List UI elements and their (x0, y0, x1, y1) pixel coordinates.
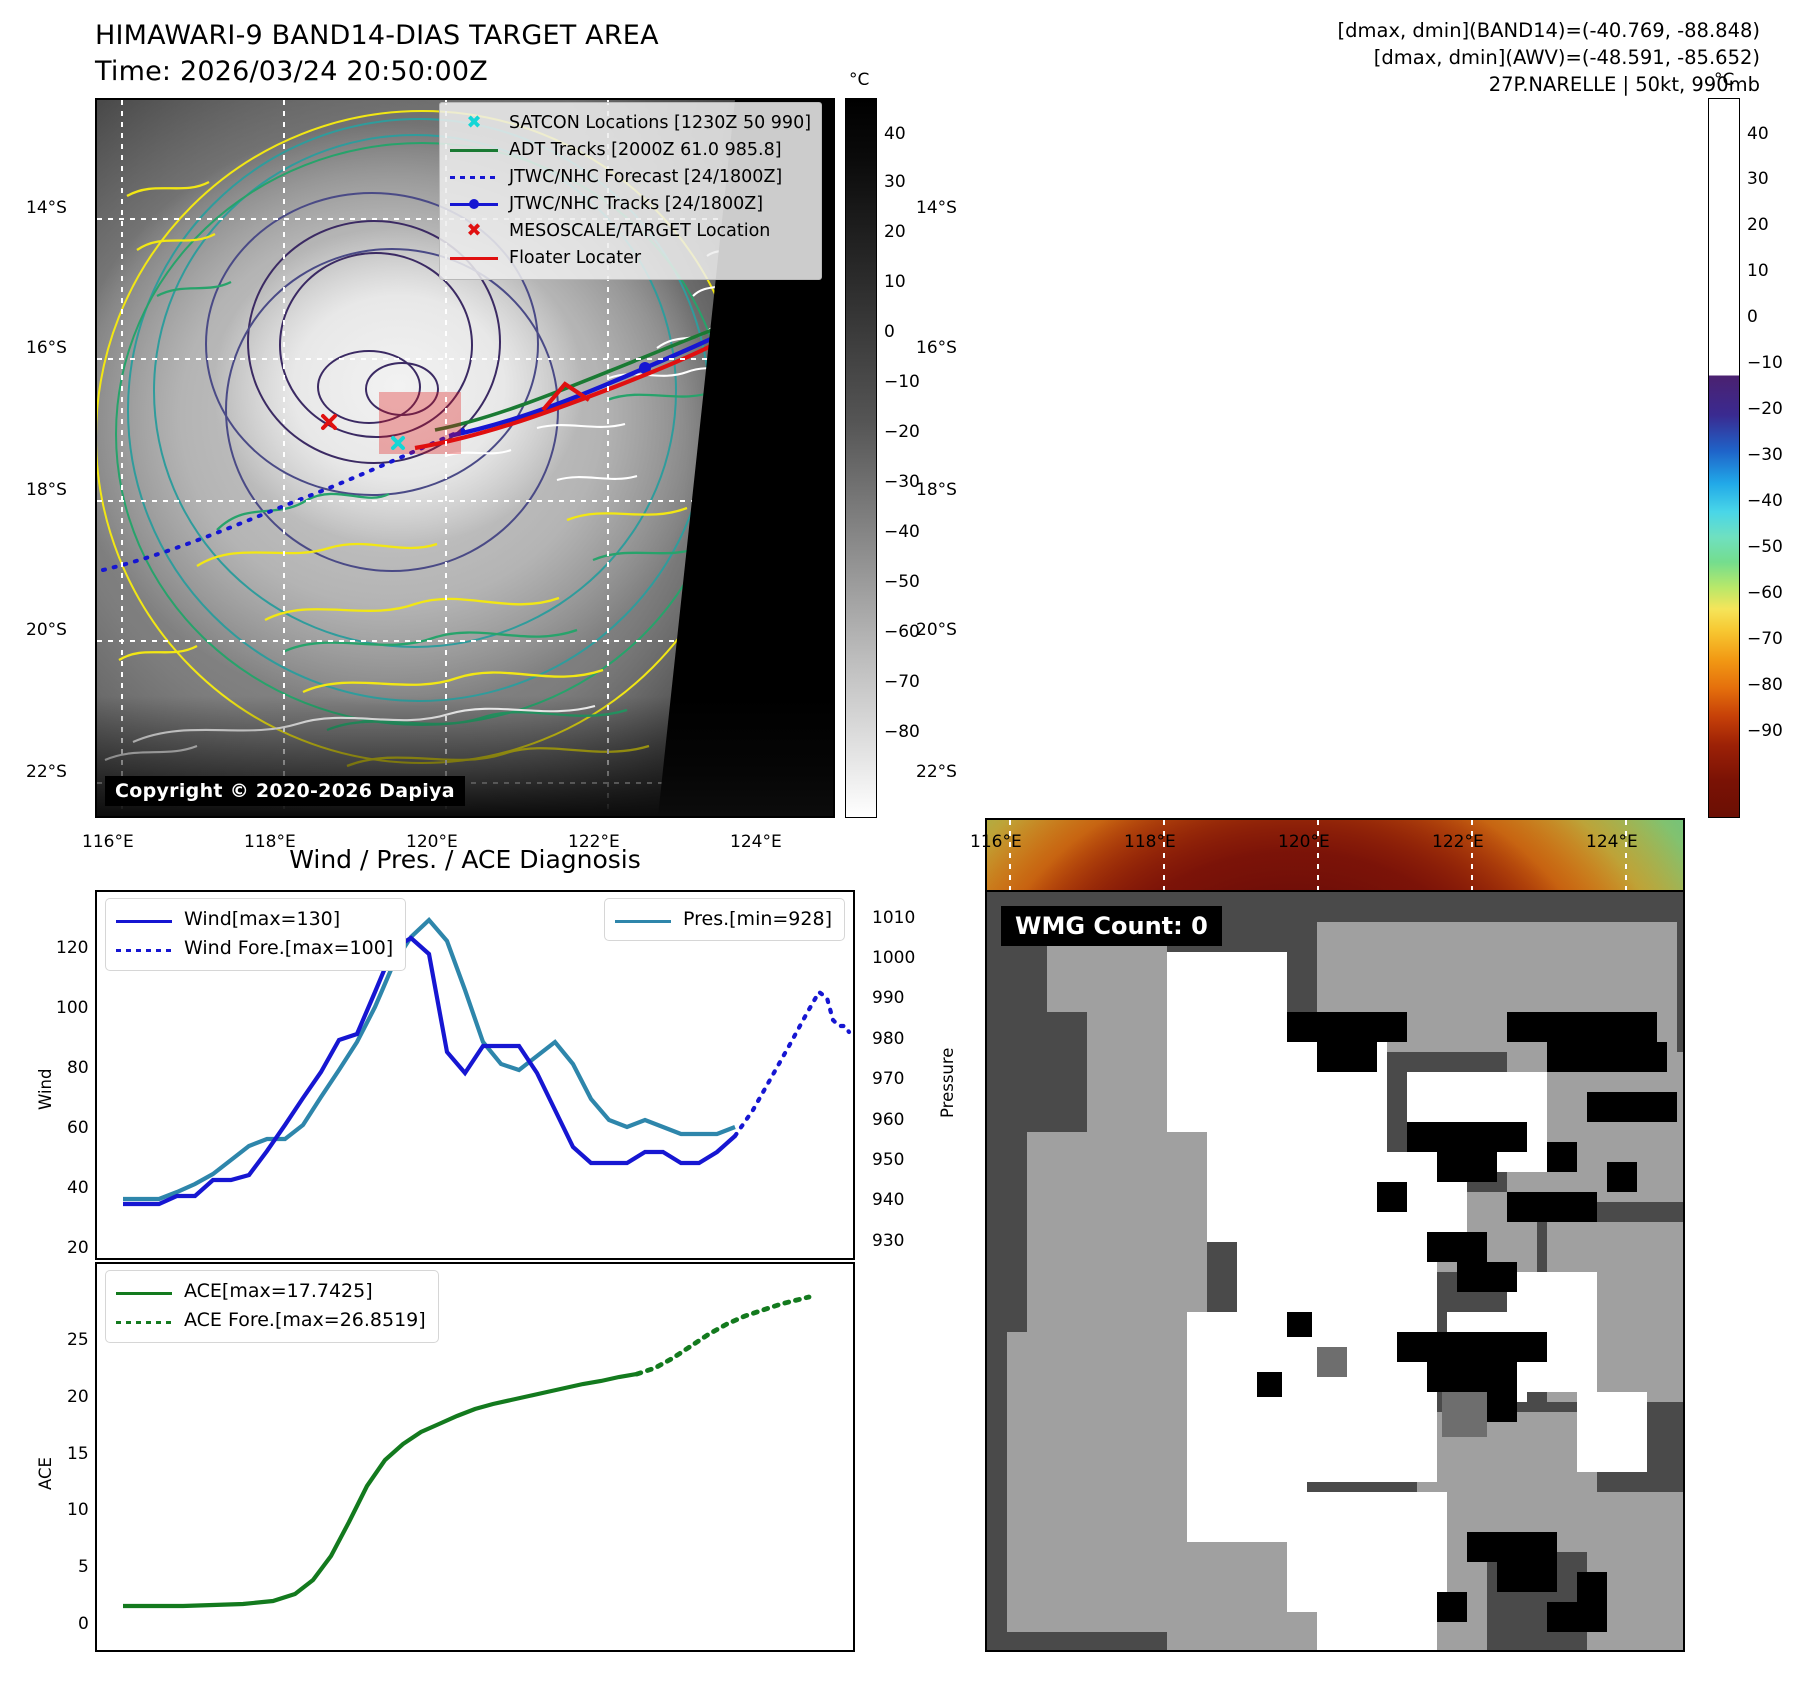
cb-tick: −90 (1747, 721, 1783, 741)
legend-label: Wind[max=130] (184, 905, 340, 934)
pressure-line-icon (613, 913, 673, 927)
floater-line-icon (448, 250, 500, 266)
ace-axis-label: ACE (36, 1457, 55, 1490)
pres-tick: 950 (872, 1150, 904, 1170)
lat-tick-label: 22°S (916, 762, 957, 782)
ace-tick: 0 (78, 1614, 89, 1634)
pres-tick: 980 (872, 1029, 904, 1049)
wind-tick: 20 (67, 1238, 89, 1258)
wind-tick: 60 (67, 1118, 89, 1138)
track-line-dot-icon (448, 196, 500, 212)
cb-tick: −10 (1747, 353, 1783, 373)
legend-row: ACE Fore.[max=26.8519] (114, 1306, 426, 1335)
mesoscale-target-marker (323, 416, 335, 428)
cb-tick: −70 (1747, 629, 1783, 649)
pres-tick: 930 (872, 1231, 904, 1251)
legend-label: MESOSCALE/TARGET Location (509, 218, 770, 245)
ace-forecast-dotted-icon (114, 1314, 174, 1328)
ace-tick: 25 (67, 1330, 89, 1350)
lat-tick-label: 20°S (26, 620, 67, 640)
legend-label: Floater Locater (509, 245, 641, 272)
wind-tick: 80 (67, 1058, 89, 1078)
wind-series (123, 938, 735, 1204)
pres-tick: 1010 (872, 908, 915, 928)
satellite-title-line: HIMAWARI-9 BAND14-DIAS TARGET AREA (95, 18, 855, 54)
ace-tick: 15 (67, 1444, 89, 1464)
cb-tick: −10 (884, 372, 920, 392)
legend-label: SATCON Locations [1230Z 50 990] (509, 110, 811, 137)
cb-tick: −20 (884, 422, 920, 442)
storm-identifier: 27P.NARELLE | 50kt, 990mb (1140, 72, 1760, 99)
legend-row: Wind[max=130] (114, 905, 393, 934)
lat-tick-label: 18°S (916, 480, 957, 500)
lat-tick-label: 16°S (26, 338, 67, 358)
adt-line-icon (448, 142, 500, 158)
enhanced-ir-colorbar (1708, 98, 1740, 818)
lon-tick-label: 118°E (1124, 832, 1176, 852)
forecast-dotted-icon (448, 169, 500, 185)
lon-tick-label: 122°E (1432, 832, 1484, 852)
ace-tick: 20 (67, 1387, 89, 1407)
cb-tick: −20 (1747, 399, 1783, 419)
cb-tick: −60 (1747, 583, 1783, 603)
cb-tick: −60 (884, 622, 920, 642)
cb-tick: 40 (1747, 124, 1769, 144)
ace-series (123, 1374, 637, 1606)
pressure-axis-label: Pressure (938, 1048, 957, 1118)
wind-line-icon (114, 913, 174, 927)
legend-label: JTWC/NHC Tracks [24/1800Z] (509, 191, 763, 218)
dmax-dmin-band14: [dmax, dmin](BAND14)=(-40.769, -88.848) (1140, 18, 1760, 45)
legend-row: Pres.[min=928] (613, 905, 832, 934)
cb-tick: 0 (884, 322, 895, 342)
pres-tick: 1000 (872, 948, 915, 968)
cb-tick: 20 (884, 222, 906, 242)
lat-tick-label: 14°S (26, 198, 67, 218)
lon-tick-label: 116°E (970, 832, 1022, 852)
cb-tick: −50 (884, 572, 920, 592)
wmg-count-label: WMG Count: 0 (1001, 906, 1222, 946)
ace-line-icon (114, 1285, 174, 1299)
cb-tick: 20 (1747, 215, 1769, 235)
wind-tick: 100 (56, 998, 88, 1018)
legend-label: JTWC/NHC Forecast [24/1800Z] (509, 164, 782, 191)
adt-track (435, 318, 743, 430)
cb-tick: −70 (884, 672, 920, 692)
copyright-notice: Copyright © 2020-2026 Dapiya (105, 776, 465, 806)
lat-tick-label: 16°S (916, 338, 957, 358)
legend-label: ACE[max=17.7425] (184, 1277, 373, 1306)
ace-legend: ACE[max=17.7425] ACE Fore.[max=26.8519] (105, 1270, 439, 1343)
diagnosis-chart-title: Wind / Pres. / ACE Diagnosis (95, 845, 835, 874)
cb-tick: −40 (884, 522, 920, 542)
dmax-dmin-awv: [dmax, dmin](AWV)=(-48.591, -85.652) (1140, 45, 1760, 72)
lat-tick-label: 18°S (26, 480, 67, 500)
cb-tick: −30 (884, 472, 920, 492)
pres-tick: 990 (872, 988, 904, 1008)
cb-tick: 10 (884, 272, 906, 292)
lat-tick-label: 22°S (26, 762, 67, 782)
legend-row: JTWC/NHC Forecast [24/1800Z] (448, 164, 811, 191)
wind-tick: 40 (67, 1178, 89, 1198)
lat-tick-label: 20°S (916, 620, 957, 640)
legend-row: ✖MESOSCALE/TARGET Location (448, 218, 811, 245)
map-legend: ✖SATCON Locations [1230Z 50 990] ADT Tra… (439, 102, 822, 280)
wind-tick: 120 (56, 938, 88, 958)
wind-forecast-series (735, 992, 849, 1136)
target-box (379, 392, 461, 454)
band14-target-area-map[interactable]: ✖SATCON Locations [1230Z 50 990] ADT Tra… (95, 98, 835, 818)
pres-tick: 960 (872, 1110, 904, 1130)
legend-label: Pres.[min=928] (683, 905, 832, 934)
legend-row: ACE[max=17.7425] (114, 1277, 426, 1306)
top-right-header: [dmax, dmin](BAND14)=(-40.769, -88.848) … (1140, 18, 1760, 99)
legend-label: Wind Fore.[max=100] (184, 934, 393, 963)
cb-tick: −80 (1747, 675, 1783, 695)
cb-tick: 30 (1747, 169, 1769, 189)
colorbar-unit-right: °C (1714, 70, 1734, 90)
legend-label: ADT Tracks [2000Z 61.0 985.8] (509, 137, 782, 164)
legend-row: ADT Tracks [2000Z 61.0 985.8] (448, 137, 811, 164)
top-left-title: HIMAWARI-9 BAND14-DIAS TARGET AREA Time:… (95, 18, 855, 89)
lat-tick-label: 14°S (916, 198, 957, 218)
ace-tick: 5 (78, 1557, 89, 1577)
wind-forecast-dotted-icon (114, 942, 174, 956)
cb-tick: −30 (1747, 445, 1783, 465)
legend-row: ✖SATCON Locations [1230Z 50 990] (448, 110, 811, 137)
wind-pressure-chart[interactable]: Wind[max=130] Wind Fore.[max=100] Pres.[… (95, 890, 855, 1260)
lon-tick-label: 124°E (1586, 832, 1638, 852)
cb-tick: −80 (884, 722, 920, 742)
legend-label: ACE Fore.[max=26.8519] (184, 1306, 426, 1335)
pres-tick: 970 (872, 1069, 904, 1089)
satcon-x-icon: ✖ (448, 115, 500, 131)
satellite-time-line: Time: 2026/03/24 20:50:00Z (95, 54, 855, 90)
jtwc-observed-track (449, 322, 745, 436)
cb-tick: 10 (1747, 261, 1769, 281)
legend-row: JTWC/NHC Tracks [24/1800Z] (448, 191, 811, 218)
cb-tick: 30 (884, 172, 906, 192)
ace-forecast-series (637, 1297, 809, 1374)
legend-row: Wind Fore.[max=100] (114, 934, 393, 963)
wind-axis-label: Wind (36, 1069, 55, 1110)
cb-tick: 0 (1747, 307, 1758, 327)
legend-row: Floater Locater (448, 245, 811, 272)
ace-tick: 10 (67, 1500, 89, 1520)
cb-tick: 40 (884, 124, 906, 144)
ace-chart[interactable]: ACE[max=17.7425] ACE Fore.[max=26.8519] (95, 1262, 855, 1652)
wind-legend: Wind[max=130] Wind Fore.[max=100] (105, 898, 406, 971)
grayscale-colorbar (845, 98, 877, 818)
pressure-legend: Pres.[min=928] (604, 898, 845, 941)
cb-tick: −40 (1747, 491, 1783, 511)
cb-tick: −50 (1747, 537, 1783, 557)
wmg-grid-map (987, 892, 1683, 1650)
lon-tick-label: 120°E (1278, 832, 1330, 852)
mesoscale-x-icon: ✖ (448, 223, 500, 239)
wmg-count-panel[interactable]: WMG Count: 0 (985, 890, 1685, 1652)
pres-tick: 940 (872, 1190, 904, 1210)
colorbar-unit-left: °C (849, 70, 869, 90)
